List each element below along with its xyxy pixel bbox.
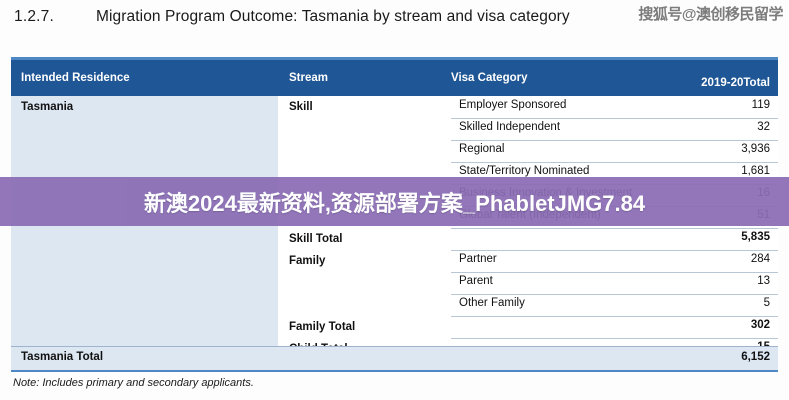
table-row: Other Family 5: [451, 294, 778, 317]
stream-label-family: Family: [289, 255, 325, 267]
table-footnote: Note: Includes primary and secondary app…: [13, 377, 254, 389]
stream-label-skill: Skill: [289, 101, 313, 113]
column-header-total: 2019-20 Total: [701, 60, 770, 101]
overlay-banner-text: 新澳2024最新资料,资源部署方案_PhabletJMG7.84: [144, 186, 645, 218]
visa-value: 1,681: [741, 165, 770, 177]
table-header-row: Intended Residence Stream Visa Category …: [11, 60, 778, 96]
visa-name: Employer Sponsored: [459, 99, 566, 111]
grand-total-row: Tasmania Total 6,152: [11, 346, 778, 372]
visa-value: 284: [751, 253, 770, 265]
overlay-banner: 新澳2024最新资料,资源部署方案_PhabletJMG7.84: [0, 177, 789, 226]
title-number: 1.2.7.: [14, 8, 54, 26]
table-row: Regional 3,936: [451, 140, 778, 163]
table-row-skill-total: 5,835: [451, 228, 778, 251]
grand-total-label: Tasmania Total: [21, 351, 103, 363]
grand-total-value: 6,152: [741, 351, 770, 363]
visa-name: State/Territory Nominated: [459, 165, 589, 177]
column-header-stream: Stream: [289, 60, 328, 96]
title-text: Migration Program Outcome: Tasmania by s…: [96, 8, 570, 26]
table-row: Partner 284: [451, 250, 778, 273]
visa-value: 119: [752, 99, 770, 111]
table-row: Employer Sponsored 119: [451, 96, 778, 119]
table-row-family-total: 302: [451, 316, 778, 339]
column-header-total-period: 2019-20: [701, 77, 743, 90]
visa-value: 5,835: [741, 231, 770, 243]
visa-name: Other Family: [459, 297, 525, 309]
visa-name: Skilled Independent: [459, 121, 560, 133]
visa-value: 3,936: [741, 143, 770, 155]
table-row: Skilled Independent 32: [451, 118, 778, 141]
stream-label-family-total: Family Total: [289, 321, 355, 333]
visa-name: Partner: [459, 253, 497, 265]
visa-value: 302: [751, 319, 770, 331]
visa-value: 32: [757, 121, 770, 133]
page-root: 1.2.7. Migration Program Outcome: Tasman…: [0, 0, 789, 400]
visa-name: Regional: [459, 143, 504, 155]
column-header-total-label: Total: [743, 77, 770, 90]
column-header-intended-residence: Intended Residence: [21, 60, 130, 96]
column-header-visa-category: Visa Category: [451, 60, 528, 96]
visa-value: 13: [757, 275, 770, 287]
sohu-watermark: 搜狐号@澳创移民留学: [638, 3, 783, 24]
visa-value: 5: [764, 297, 770, 309]
residence-label: Tasmania: [21, 101, 73, 113]
table-row: Parent 13: [451, 272, 778, 295]
visa-name: Parent: [459, 275, 493, 287]
stream-label-skill-total: Skill Total: [289, 233, 342, 245]
